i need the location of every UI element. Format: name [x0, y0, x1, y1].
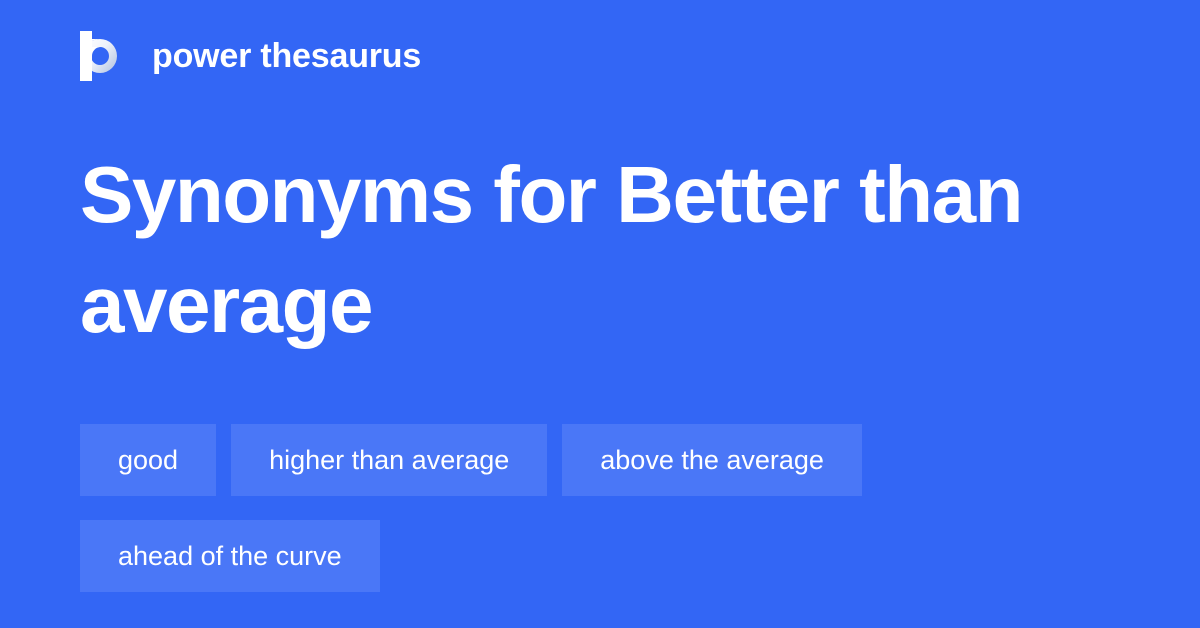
power-thesaurus-logo-icon [80, 31, 124, 81]
brand-name-text: power thesaurus [152, 39, 421, 73]
synonym-chip[interactable]: above the average [562, 424, 862, 496]
social-share-card: power thesaurus Synonyms for Better than… [0, 0, 1200, 628]
brand-header[interactable]: power thesaurus [80, 28, 421, 84]
synonym-chip[interactable]: ahead of the curve [80, 520, 380, 592]
synonym-chip[interactable]: higher than average [231, 424, 547, 496]
page-title: Synonyms for Better than average [80, 140, 1090, 360]
synonym-chip-list: good higher than average above the avera… [80, 424, 1120, 592]
synonym-chip[interactable]: good [80, 424, 216, 496]
